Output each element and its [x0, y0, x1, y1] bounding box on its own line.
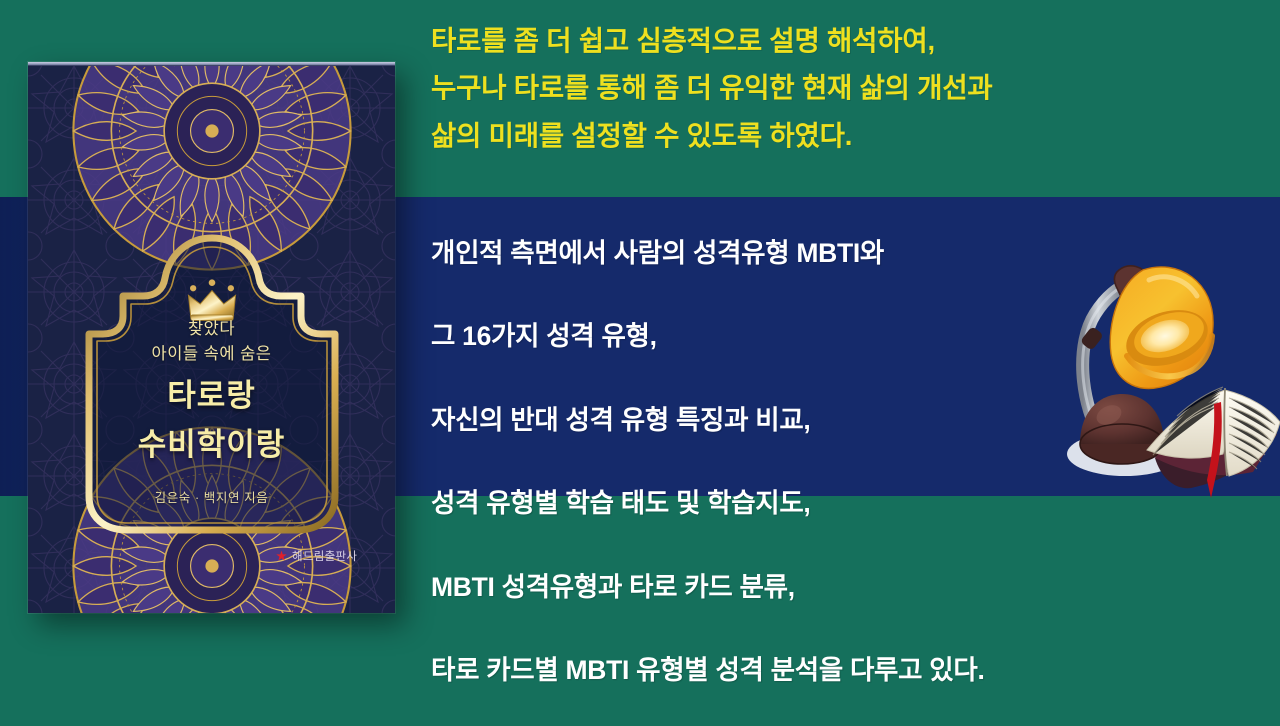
- cover-title-line2: 수비학이랑: [28, 425, 395, 465]
- book-cover-image: 찾았다 아이들 속에 숨은 타로랑 수비학이랑 김은숙 · 백지연 지음 해드림…: [28, 62, 395, 613]
- publisher-name: 해드림출판사: [292, 548, 357, 564]
- bullet-line-6: 타로 카드별 MBTI 유형별 성격 분석을 다루고 있다.: [431, 653, 1261, 687]
- cover-title-line1: 타로랑: [28, 376, 395, 416]
- lamp-and-book-illustration: [1015, 222, 1280, 507]
- cover-text-block: 찾았다 아이들 속에 숨은 타로랑 수비학이랑: [28, 317, 395, 466]
- headline-line-3: 삶의 미래를 설정할 수 있도록 하였다.: [431, 112, 1261, 159]
- cover-subtitle-line1: 찾았다: [28, 317, 395, 342]
- bullet-line-5: MBTI 성격유형과 타로 카드 분류,: [431, 570, 1261, 604]
- book-top-edge: [28, 62, 395, 66]
- headline-block: 타로를 좀 더 쉽고 심층적으로 설명 해석하여, 누구나 타로를 통해 좀 더…: [431, 17, 1261, 159]
- headline-line-1: 타로를 좀 더 쉽고 심층적으로 설명 해석하여,: [431, 17, 1261, 64]
- crown-icon: [184, 278, 240, 322]
- cover-subtitle-line2: 아이들 속에 숨은: [28, 342, 395, 367]
- star-icon: [276, 551, 287, 562]
- headline-line-2: 누구나 타로를 통해 좀 더 유익한 현재 삶의 개선과: [431, 64, 1261, 111]
- slide-canvas: 찾았다 아이들 속에 숨은 타로랑 수비학이랑 김은숙 · 백지연 지음 해드림…: [0, 0, 1280, 726]
- cover-authors: 김은숙 · 백지연 지음: [28, 487, 395, 506]
- book-cover-face: 찾았다 아이들 속에 숨은 타로랑 수비학이랑 김은숙 · 백지연 지음 해드림…: [28, 62, 395, 613]
- publisher-logo: 해드림출판사: [276, 548, 357, 564]
